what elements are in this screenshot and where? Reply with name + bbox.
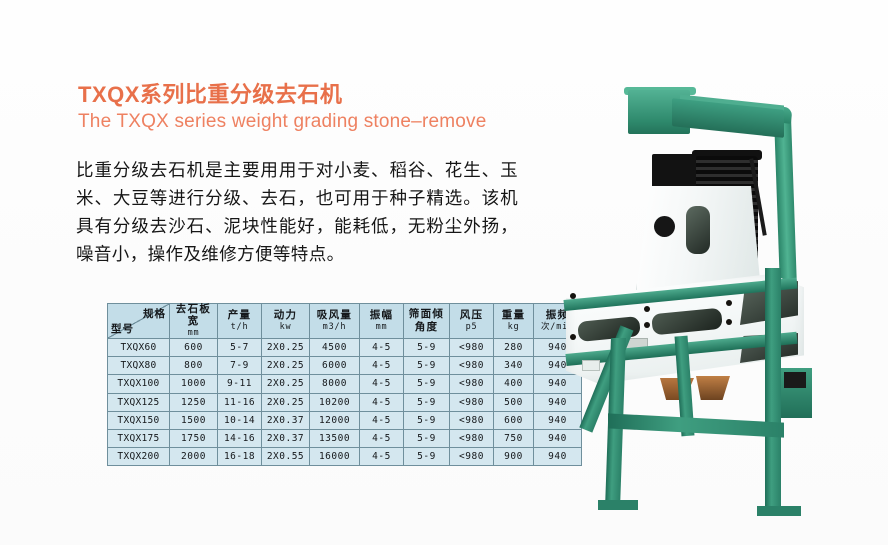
cell-weight: 900 [494, 448, 534, 466]
table-row: TXQX100 1000 9-11 2X0.25 8000 4-5 5-9 <9… [108, 375, 582, 393]
cell-sieve-angle: 5-9 [404, 393, 450, 411]
cell-power: 2X0.55 [262, 448, 310, 466]
product-photo [560, 38, 888, 518]
cell-plate-width: 1250 [170, 393, 218, 411]
machine-bolt [570, 334, 576, 340]
cell-plate-width: 1000 [170, 375, 218, 393]
page-title-chinese: TXQX系列比重分级去石机 [78, 82, 548, 108]
cell-capacity: 11-16 [218, 393, 262, 411]
cell-model: TXQX80 [108, 357, 170, 375]
cell-model: TXQX60 [108, 339, 170, 357]
table-row: TXQX175 1750 14-16 2X0.37 13500 4-5 5-9 … [108, 429, 582, 447]
header-corner-cell: 规格 型号 [108, 304, 170, 339]
cell-air-pressure: <980 [450, 375, 494, 393]
cell-amplitude: 4-5 [360, 429, 404, 447]
machine-bolt [644, 306, 650, 312]
heading-block: TXQX系列比重分级去石机 The TXQX series weight gra… [78, 82, 548, 134]
cell-air-pressure: <980 [450, 339, 494, 357]
cell-model: TXQX150 [108, 411, 170, 429]
cell-capacity: 10-14 [218, 411, 262, 429]
cell-power: 2X0.25 [262, 393, 310, 411]
machine-bolt [726, 319, 732, 325]
machine-bolt [644, 322, 650, 328]
table-row: TXQX150 1500 10-14 2X0.37 12000 4-5 5-9 … [108, 411, 582, 429]
cell-air-pressure: <980 [450, 357, 494, 375]
machine-bolt [726, 300, 732, 306]
brochure-page: TXQX系列比重分级去石机 The TXQX series weight gra… [0, 0, 888, 545]
cell-power: 2X0.25 [262, 357, 310, 375]
cell-sieve-angle: 5-9 [404, 375, 450, 393]
machine-foot-left [598, 500, 638, 510]
cell-weight: 600 [494, 411, 534, 429]
table-row: TXQX80 800 7-9 2X0.25 6000 4-5 5-9 <980 … [108, 357, 582, 375]
machine-side-spout [582, 360, 600, 371]
cell-air-pressure: <980 [450, 393, 494, 411]
cell-power: 2X0.25 [262, 339, 310, 357]
cell-weight: 750 [494, 429, 534, 447]
cell-amplitude: 4-5 [360, 357, 404, 375]
cell-air-volume: 8000 [310, 375, 360, 393]
cell-capacity: 5-7 [218, 339, 262, 357]
machine-outlet-2 [696, 376, 730, 400]
cell-plate-width: 600 [170, 339, 218, 357]
header-col-sieve-angle: 筛面倾 角度 [404, 304, 450, 339]
header-col-capacity: 产量 t/h [218, 304, 262, 339]
header-col-plate-width: 去石板宽 mm [170, 304, 218, 339]
cell-model: TXQX125 [108, 393, 170, 411]
cell-air-volume: 16000 [310, 448, 360, 466]
cell-sieve-angle: 5-9 [404, 357, 450, 375]
cell-plate-width: 1500 [170, 411, 218, 429]
machine-horizontal-brace [608, 413, 784, 437]
cell-capacity: 7-9 [218, 357, 262, 375]
cell-weight: 340 [494, 357, 534, 375]
machine-leg-right [765, 268, 781, 513]
cell-amplitude: 4-5 [360, 448, 404, 466]
cell-air-volume: 4500 [310, 339, 360, 357]
table-body: TXQX60 600 5-7 2X0.25 4500 4-5 5-9 <980 … [108, 339, 582, 466]
cell-power: 2X0.37 [262, 429, 310, 447]
product-description: 比重分级去石机是主要用用于对小麦、稻谷、花生、玉米、大豆等进行分级、去石，也可用… [76, 156, 518, 268]
header-col-weight: 重量 kg [494, 304, 534, 339]
table-row: TXQX200 2000 16-18 2X0.55 16000 4-5 5-9 … [108, 448, 582, 466]
table-row: TXQX60 600 5-7 2X0.25 4500 4-5 5-9 <980 … [108, 339, 582, 357]
cell-air-volume: 6000 [310, 357, 360, 375]
cell-amplitude: 4-5 [360, 393, 404, 411]
cell-sieve-angle: 5-9 [404, 429, 450, 447]
table-row: TXQX125 1250 11-16 2X0.25 10200 4-5 5-9 … [108, 393, 582, 411]
header-model-label: 型号 [111, 321, 134, 336]
cell-capacity: 9-11 [218, 375, 262, 393]
header-col-air-pressure: 风压 p5 [450, 304, 494, 339]
spec-table-container: 规格 型号 去石板宽 mm 产量 t/h [107, 303, 582, 466]
cell-sieve-angle: 5-9 [404, 339, 450, 357]
machine-foot-right [757, 506, 801, 516]
page-title-english: The TXQX series weight grading stone–rem… [78, 110, 548, 134]
machine-round-port [654, 216, 675, 237]
header-col-air-volume: 吸风量 m3/h [310, 304, 360, 339]
cell-model: TXQX200 [108, 448, 170, 466]
cell-power: 2X0.37 [262, 411, 310, 429]
header-col-power: 动力 kw [262, 304, 310, 339]
cell-amplitude: 4-5 [360, 411, 404, 429]
header-spec-label: 规格 [143, 306, 166, 321]
cell-power: 2X0.25 [262, 375, 310, 393]
machine-upper-window [686, 206, 710, 254]
cell-air-pressure: <980 [450, 411, 494, 429]
cell-capacity: 16-18 [218, 448, 262, 466]
cell-amplitude: 4-5 [360, 375, 404, 393]
cell-air-volume: 12000 [310, 411, 360, 429]
machine-bolt [570, 293, 576, 299]
cell-model: TXQX100 [108, 375, 170, 393]
cell-air-pressure: <980 [450, 448, 494, 466]
cell-weight: 500 [494, 393, 534, 411]
cell-model: TXQX175 [108, 429, 170, 447]
cell-amplitude: 4-5 [360, 339, 404, 357]
cell-plate-width: 1750 [170, 429, 218, 447]
machine-chute-opening [784, 372, 806, 388]
cell-weight: 400 [494, 375, 534, 393]
table-header-row: 规格 型号 去石板宽 mm 产量 t/h [108, 304, 582, 339]
cell-air-volume: 10200 [310, 393, 360, 411]
cell-capacity: 14-16 [218, 429, 262, 447]
header-col-amplitude: 振幅 mm [360, 304, 404, 339]
cell-plate-width: 800 [170, 357, 218, 375]
cell-sieve-angle: 5-9 [404, 411, 450, 429]
cell-sieve-angle: 5-9 [404, 448, 450, 466]
cell-air-pressure: <980 [450, 429, 494, 447]
specification-table: 规格 型号 去石板宽 mm 产量 t/h [107, 303, 582, 466]
cell-weight: 280 [494, 339, 534, 357]
cell-air-volume: 13500 [310, 429, 360, 447]
cell-plate-width: 2000 [170, 448, 218, 466]
